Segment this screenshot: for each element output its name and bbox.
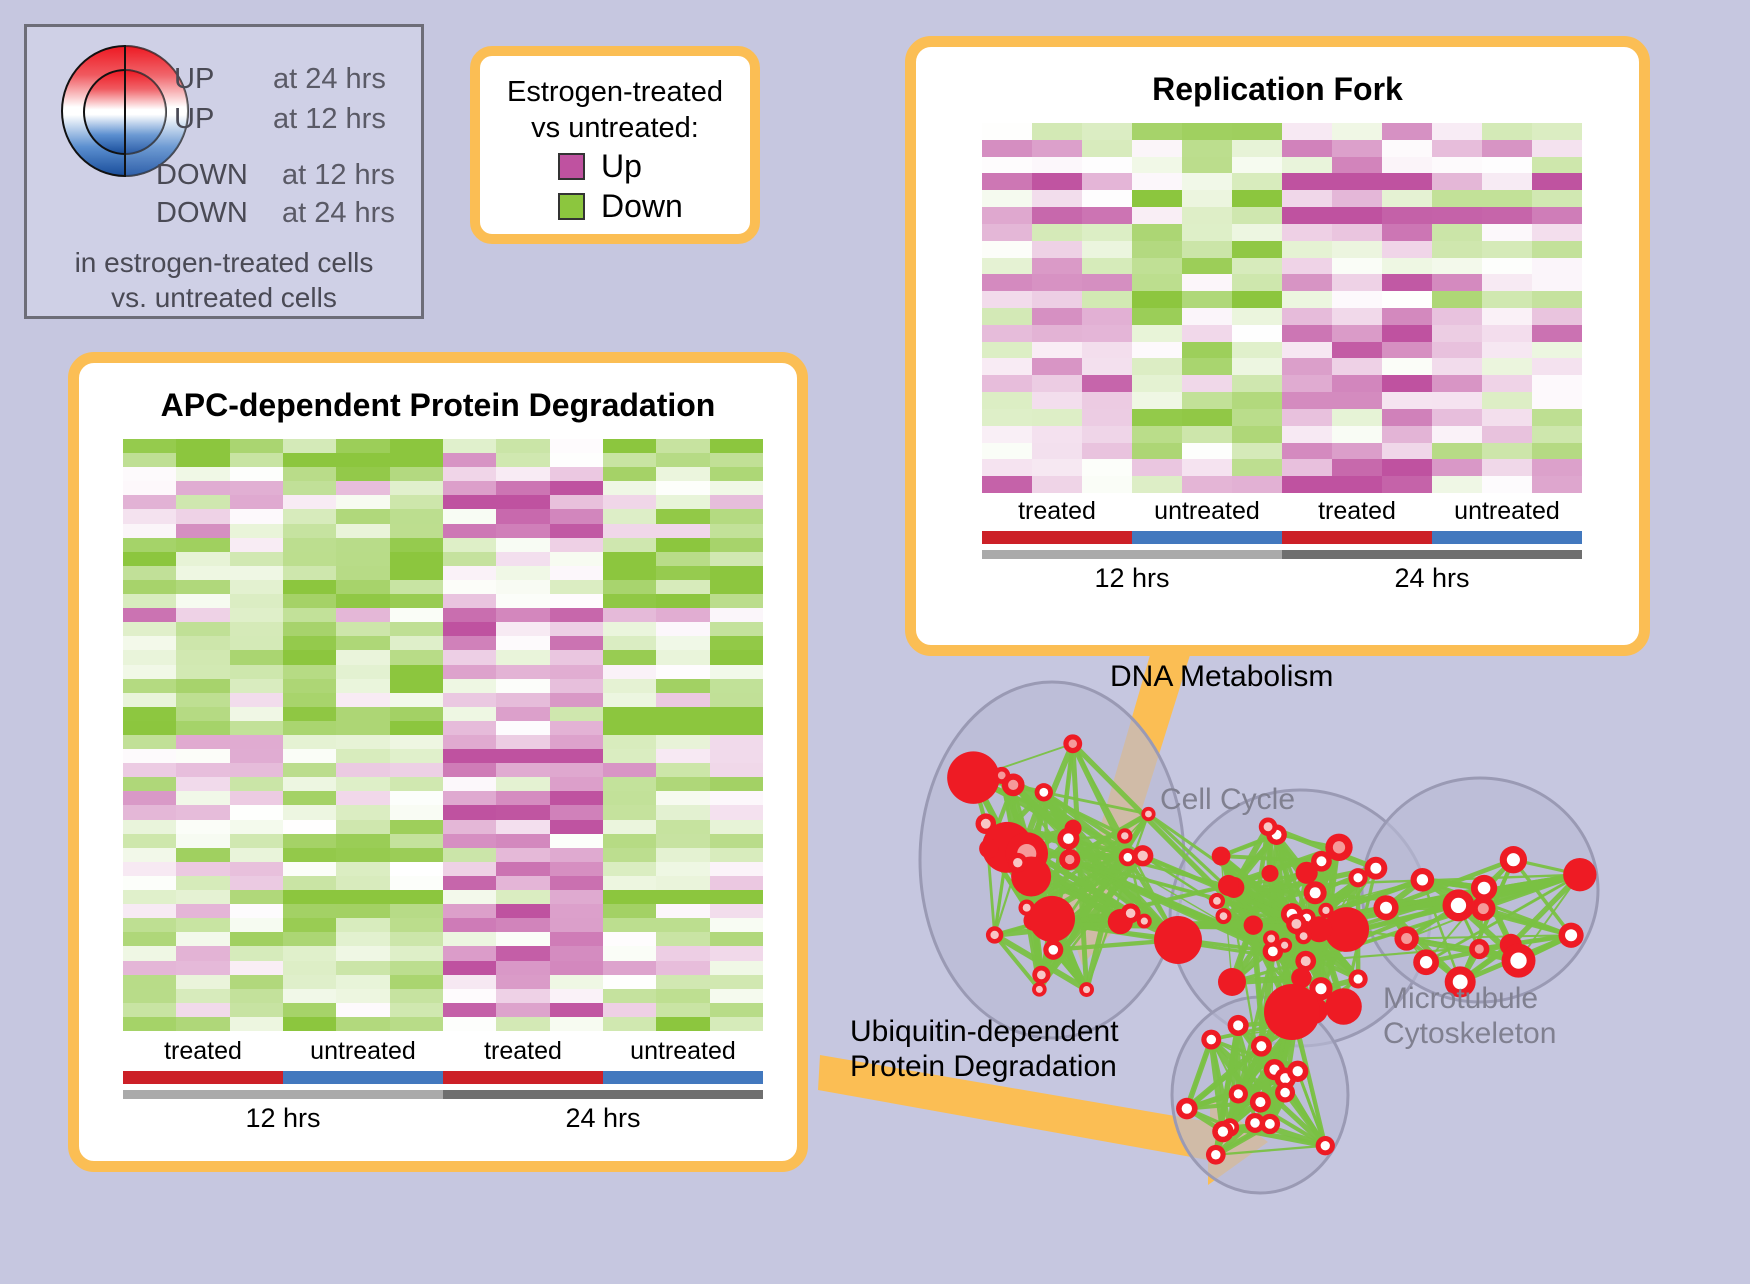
heatmap-cell <box>283 918 336 932</box>
heatmap-cell <box>1382 459 1432 476</box>
heatmap-cell <box>1432 140 1482 157</box>
heatmap-cell <box>1082 291 1132 308</box>
heatmap-cell <box>1032 274 1082 291</box>
heatmap-cell <box>336 946 389 960</box>
heatmap-cell <box>1332 476 1382 493</box>
heatmap-cell <box>283 467 336 481</box>
heatmap-cell <box>550 904 603 918</box>
heatmap-cell <box>176 650 229 664</box>
heatmap-cell <box>1382 375 1432 392</box>
heatmap-cell <box>390 820 443 834</box>
network-node <box>1218 968 1246 996</box>
heatmap-cell <box>230 862 283 876</box>
heatmap-cell <box>1432 476 1482 493</box>
colorwheel-direction-2: DOWN <box>156 161 248 190</box>
heatmap-cell <box>390 580 443 594</box>
heatmap-cell <box>1032 459 1082 476</box>
heatmap-cell <box>123 932 176 946</box>
heatmap-cell <box>443 946 496 960</box>
heatmap-cell <box>336 679 389 693</box>
heatmap-cell <box>1432 241 1482 258</box>
heatmap-cell <box>1182 308 1232 325</box>
heatmap-cell <box>123 524 176 538</box>
heatmap-cell <box>176 439 229 453</box>
heatmap-cell <box>123 679 176 693</box>
heatmap-cell <box>550 805 603 819</box>
up-color-swatch <box>558 153 585 180</box>
heatmap-cell <box>336 890 389 904</box>
network-node <box>1411 868 1435 892</box>
heatmap-cell <box>123 777 176 791</box>
heatmap-cell <box>550 679 603 693</box>
heatmap-cell <box>336 665 389 679</box>
heatmap-cell <box>230 566 283 580</box>
heatmap-cell <box>603 876 656 890</box>
colorwheel-direction-3: DOWN <box>156 199 248 228</box>
heatmap-cell <box>336 862 389 876</box>
heatmap-cell <box>1182 207 1232 224</box>
heatmap-cell <box>230 932 283 946</box>
heatmap-cell <box>443 735 496 749</box>
heatmap-cell <box>496 580 549 594</box>
heatmap-cell <box>603 636 656 650</box>
heatmap-cell <box>1382 258 1432 275</box>
heatmap-cell <box>443 749 496 763</box>
heatmap-cell <box>390 777 443 791</box>
heatmap-cell <box>1282 224 1332 241</box>
heatmap-cell <box>336 453 389 467</box>
network-node-core <box>1322 907 1329 914</box>
heatmap-cell <box>230 650 283 664</box>
heatmap-cell <box>603 439 656 453</box>
heatmap-cell <box>550 509 603 523</box>
heatmap-cell <box>496 961 549 975</box>
updown-legend-title-line1: Estrogen-treated <box>480 74 750 110</box>
axis-label-treated-24: treated <box>443 1039 603 1064</box>
network-node-core <box>1301 956 1311 966</box>
heatmap-cell <box>176 608 229 622</box>
heatmap-cell <box>1232 443 1282 460</box>
heatmap-cell <box>1332 375 1382 392</box>
heatmap-cell <box>336 1017 389 1031</box>
down-label: Down <box>601 190 683 222</box>
heatmap-cell <box>496 467 549 481</box>
heatmap-cell <box>1182 443 1232 460</box>
network-node <box>1035 783 1053 801</box>
heatmap-cell <box>283 749 336 763</box>
heatmap-cell <box>230 608 283 622</box>
heatmap-cell <box>1482 426 1532 443</box>
heatmap-cell <box>656 932 709 946</box>
heatmap-cell <box>1182 342 1232 359</box>
heatmap-cell <box>1382 157 1432 174</box>
heatmap-cell <box>123 467 176 481</box>
heatmap-cell <box>176 904 229 918</box>
panel-replication-title: Replication Fork <box>916 71 1639 108</box>
heatmap-cell <box>443 1017 496 1031</box>
network-node <box>1259 817 1278 836</box>
heatmap-cell <box>710 805 763 819</box>
heatmap-cell <box>710 665 763 679</box>
heatmap-cell <box>710 636 763 650</box>
heatmap-cell <box>230 805 283 819</box>
network-node-core <box>1354 974 1363 983</box>
heatmap-cell <box>336 876 389 890</box>
network-node <box>1471 896 1495 920</box>
heatmap-cell <box>656 636 709 650</box>
heatmap-cell <box>550 763 603 777</box>
heatmap-cell <box>496 820 549 834</box>
network-node-core <box>1417 874 1428 885</box>
colorwheel-time-2: at 12 hrs <box>282 161 395 190</box>
network-node-core <box>1264 822 1273 831</box>
heatmap-cell <box>176 848 229 862</box>
heatmap-cell <box>283 961 336 975</box>
heatmap-cell <box>176 538 229 552</box>
heatmap-cell <box>1482 308 1532 325</box>
heatmap-cell <box>123 961 176 975</box>
heatmap-cell <box>982 308 1032 325</box>
heatmap-cell <box>176 580 229 594</box>
heatmap-cell <box>656 665 709 679</box>
heatmap-cell <box>336 608 389 622</box>
network-node <box>1154 916 1202 964</box>
heatmap-cell <box>1082 443 1132 460</box>
heatmap-cell <box>443 552 496 566</box>
heatmap-cell <box>1482 459 1532 476</box>
network-node <box>1559 923 1584 948</box>
network-node <box>1469 939 1489 959</box>
cluster-label-ubiquitin-degradation: Ubiquitin-dependent Protein Degradation <box>850 1015 1119 1085</box>
heatmap-cell <box>443 777 496 791</box>
heatmap-cell <box>710 932 763 946</box>
heatmap-cell <box>1432 224 1482 241</box>
network-node-core <box>1478 882 1491 895</box>
heatmap-cell <box>443 509 496 523</box>
network-node <box>1264 984 1320 1040</box>
heatmap-cell <box>336 763 389 777</box>
heatmap-cell <box>496 805 549 819</box>
heatmap-cell <box>1082 459 1132 476</box>
heatmap-cell <box>123 594 176 608</box>
heatmap-cell <box>1532 258 1582 275</box>
heatmap-cell <box>1232 426 1282 443</box>
heatmap-cell <box>443 1003 496 1017</box>
heatmap-cell <box>176 834 229 848</box>
heatmap-cell <box>1382 409 1432 426</box>
heatmap-replication <box>982 123 1582 493</box>
network-node <box>1201 1030 1221 1050</box>
heatmap-cell <box>550 439 603 453</box>
heatmap-cell <box>1132 358 1182 375</box>
heatmap-cell <box>1082 375 1132 392</box>
heatmap-cell <box>390 467 443 481</box>
heatmap-cell <box>1432 258 1482 275</box>
heatmap-cell <box>603 552 656 566</box>
heatmap-cell <box>710 777 763 791</box>
network-node <box>1349 969 1368 988</box>
network-node-core <box>1255 1097 1265 1107</box>
heatmap-cell <box>1132 409 1182 426</box>
heatmap-cell <box>1182 157 1232 174</box>
heatmap-cell <box>1532 207 1582 224</box>
heatmap-cell <box>443 961 496 975</box>
heatmap-cell <box>283 777 336 791</box>
heatmap-cell <box>1432 358 1482 375</box>
heatmap-cell <box>390 566 443 580</box>
heatmap-cell <box>1182 140 1232 157</box>
network-svg <box>860 640 1750 1279</box>
heatmap-cell <box>710 693 763 707</box>
heatmap-cell <box>123 763 176 777</box>
heatmap-cell <box>1382 308 1432 325</box>
heatmap-cell <box>1482 358 1532 375</box>
heatmap-cell <box>496 439 549 453</box>
heatmap-cell <box>123 918 176 932</box>
heatmap-cell <box>230 904 283 918</box>
heatmap-cell <box>656 622 709 636</box>
heatmap-cell <box>1232 207 1282 224</box>
heatmap-cell <box>496 693 549 707</box>
heatmap-cell <box>1532 358 1582 375</box>
heatmap-cell <box>390 622 443 636</box>
heatmap-cell <box>1232 241 1282 258</box>
heatmap-cell <box>1232 140 1282 157</box>
heatmap-cell <box>603 524 656 538</box>
network-node <box>1057 828 1079 850</box>
heatmap-cell <box>1082 207 1132 224</box>
heatmap-cell <box>1382 325 1432 342</box>
heatmap-cell <box>1482 274 1532 291</box>
heatmap-cell <box>496 932 549 946</box>
heatmap-cell <box>283 890 336 904</box>
heatmap-cell <box>176 1017 229 1031</box>
heatmap-cell <box>1382 358 1432 375</box>
network-node-core <box>1023 904 1031 912</box>
axis-bar-treated-24 <box>1282 531 1432 544</box>
heatmap-cell <box>390 495 443 509</box>
heatmap-cell <box>123 946 176 960</box>
heatmap-cell <box>603 538 656 552</box>
heatmap-cell <box>176 989 229 1003</box>
heatmap-cell <box>603 989 656 1003</box>
heatmap-cell <box>982 358 1032 375</box>
heatmap-cell <box>1332 443 1382 460</box>
heatmap-cell <box>1432 123 1482 140</box>
heatmap-cell <box>336 721 389 735</box>
heatmap-cell <box>496 707 549 721</box>
heatmap-cell <box>443 665 496 679</box>
heatmap-cell <box>1232 392 1282 409</box>
heatmap-cell <box>603 791 656 805</box>
heatmap-cell <box>390 552 443 566</box>
network-node <box>1059 849 1080 870</box>
heatmap-cell <box>1232 375 1282 392</box>
heatmap-cell <box>443 834 496 848</box>
heatmap-cell <box>1532 241 1582 258</box>
heatmap-cell <box>443 989 496 1003</box>
heatmap-cell <box>1532 375 1582 392</box>
heatmap-cell <box>176 805 229 819</box>
heatmap-cell <box>550 848 603 862</box>
network-node <box>1373 895 1398 920</box>
heatmap-cell <box>230 975 283 989</box>
heatmap-cell <box>1232 173 1282 190</box>
heatmap-cell <box>176 679 229 693</box>
heatmap-cell <box>336 749 389 763</box>
heatmap-cell <box>230 707 283 721</box>
heatmap-cell <box>982 325 1032 342</box>
heatmap-cell <box>656 975 709 989</box>
heatmap-cell <box>230 763 283 777</box>
time-label-12hrs: 12 hrs <box>982 565 1282 592</box>
heatmap-cell <box>710 862 763 876</box>
heatmap-cell <box>390 763 443 777</box>
heatmap-cell <box>603 481 656 495</box>
heatmap-cell <box>710 608 763 622</box>
heatmap-cell <box>230 946 283 960</box>
heatmap-cell <box>230 439 283 453</box>
heatmap-cell <box>1182 409 1232 426</box>
heatmap-cell <box>443 763 496 777</box>
heatmap-cell <box>1232 308 1282 325</box>
heatmap-cell <box>1232 224 1282 241</box>
network-node-core <box>1145 811 1152 818</box>
network-node <box>1137 914 1152 929</box>
heatmap-cell <box>603 834 656 848</box>
heatmap-cell <box>1032 325 1082 342</box>
heatmap-cell <box>656 946 709 960</box>
heatmap-cell <box>1032 173 1082 190</box>
heatmap-cell <box>283 848 336 862</box>
network-node <box>1286 914 1306 934</box>
heatmap-cell <box>123 538 176 552</box>
heatmap-cell <box>230 791 283 805</box>
heatmap-cell <box>1282 241 1332 258</box>
network-node-core <box>1256 1041 1266 1051</box>
heatmap-cell <box>710 749 763 763</box>
heatmap-cell <box>656 890 709 904</box>
heatmap-cell <box>656 608 709 622</box>
heatmap-cell <box>710 1003 763 1017</box>
network-node-core <box>1310 887 1321 898</box>
heatmap-cell <box>230 481 283 495</box>
heatmap-cell <box>390 650 443 664</box>
heatmap-cell <box>230 918 283 932</box>
heatmap-cell <box>710 820 763 834</box>
heatmap-cell <box>123 848 176 862</box>
network-node <box>1117 828 1132 843</box>
heatmap-cell <box>336 552 389 566</box>
heatmap-cell <box>982 241 1032 258</box>
network-node <box>1325 834 1352 861</box>
axis-bar-treated-12 <box>123 1071 283 1084</box>
heatmap-cell <box>496 834 549 848</box>
network-node-core <box>1121 832 1128 839</box>
network-node-core <box>1333 841 1345 853</box>
heatmap-cell <box>1532 173 1582 190</box>
heatmap-cell <box>1382 241 1432 258</box>
heatmap-cell <box>283 665 336 679</box>
heatmap-cell <box>336 524 389 538</box>
heatmap-cell <box>710 848 763 862</box>
heatmap-cell <box>1482 443 1532 460</box>
heatmap-cell <box>550 791 603 805</box>
heatmap-cell <box>1032 476 1082 493</box>
heatmap-cell <box>176 481 229 495</box>
heatmap-cell <box>1082 258 1132 275</box>
heatmap-cell <box>176 918 229 932</box>
heatmap-cell <box>710 721 763 735</box>
heatmap-cell <box>496 594 549 608</box>
heatmap-cell <box>710 763 763 777</box>
heatmap-cell <box>390 453 443 467</box>
heatmap-cell <box>710 679 763 693</box>
heatmap-cell <box>1482 325 1532 342</box>
heatmap-cell <box>1282 476 1332 493</box>
network-node-core <box>981 819 991 829</box>
heatmap-cell <box>176 890 229 904</box>
heatmap-cell <box>1432 173 1482 190</box>
colorwheel-caption-line1: in estrogen-treated cells <box>27 245 421 280</box>
heatmap-cell <box>656 777 709 791</box>
heatmap-cell <box>710 622 763 636</box>
heatmap-cell <box>1182 241 1232 258</box>
heatmap-cell <box>390 693 443 707</box>
heatmap-cell <box>982 409 1032 426</box>
network-node-core <box>1008 780 1018 790</box>
heatmap-cell <box>656 594 709 608</box>
heatmap-cell <box>283 439 336 453</box>
heatmap-cell <box>390 735 443 749</box>
colorwheel-divider <box>124 45 126 177</box>
heatmap-cell <box>1182 392 1232 409</box>
heatmap-cell <box>336 932 389 946</box>
heatmap-cell <box>1132 325 1182 342</box>
heatmap-cell <box>1332 140 1382 157</box>
heatmap-cell <box>1132 241 1182 258</box>
heatmap-cell <box>443 524 496 538</box>
network-node-core <box>1478 903 1489 914</box>
heatmap-cell <box>390 848 443 862</box>
heatmap-cell <box>710 453 763 467</box>
heatmap-cell <box>336 735 389 749</box>
heatmap-cell <box>550 890 603 904</box>
heatmap-cell <box>710 707 763 721</box>
heatmap-cell <box>603 904 656 918</box>
heatmap-cell <box>496 989 549 1003</box>
heatmap-cell <box>550 566 603 580</box>
time-label-12hrs: 12 hrs <box>123 1105 443 1132</box>
heatmap-cell <box>1132 274 1182 291</box>
heatmap-cell <box>1332 342 1382 359</box>
heatmap-cell <box>496 749 549 763</box>
heatmap-cell <box>176 932 229 946</box>
heatmap-cell <box>1132 375 1182 392</box>
heatmap-cell <box>603 805 656 819</box>
network-node-core <box>1507 853 1520 866</box>
heatmap-cell <box>1282 207 1332 224</box>
heatmap-cell <box>390 524 443 538</box>
heatmap-cell <box>1032 342 1082 359</box>
heatmap-cell <box>603 975 656 989</box>
heatmap-cell <box>496 862 549 876</box>
heatmap-cell <box>710 467 763 481</box>
heatmap-cell <box>603 918 656 932</box>
heatmap-cell <box>230 453 283 467</box>
network-node-core <box>1420 956 1432 968</box>
heatmap-cell <box>443 439 496 453</box>
